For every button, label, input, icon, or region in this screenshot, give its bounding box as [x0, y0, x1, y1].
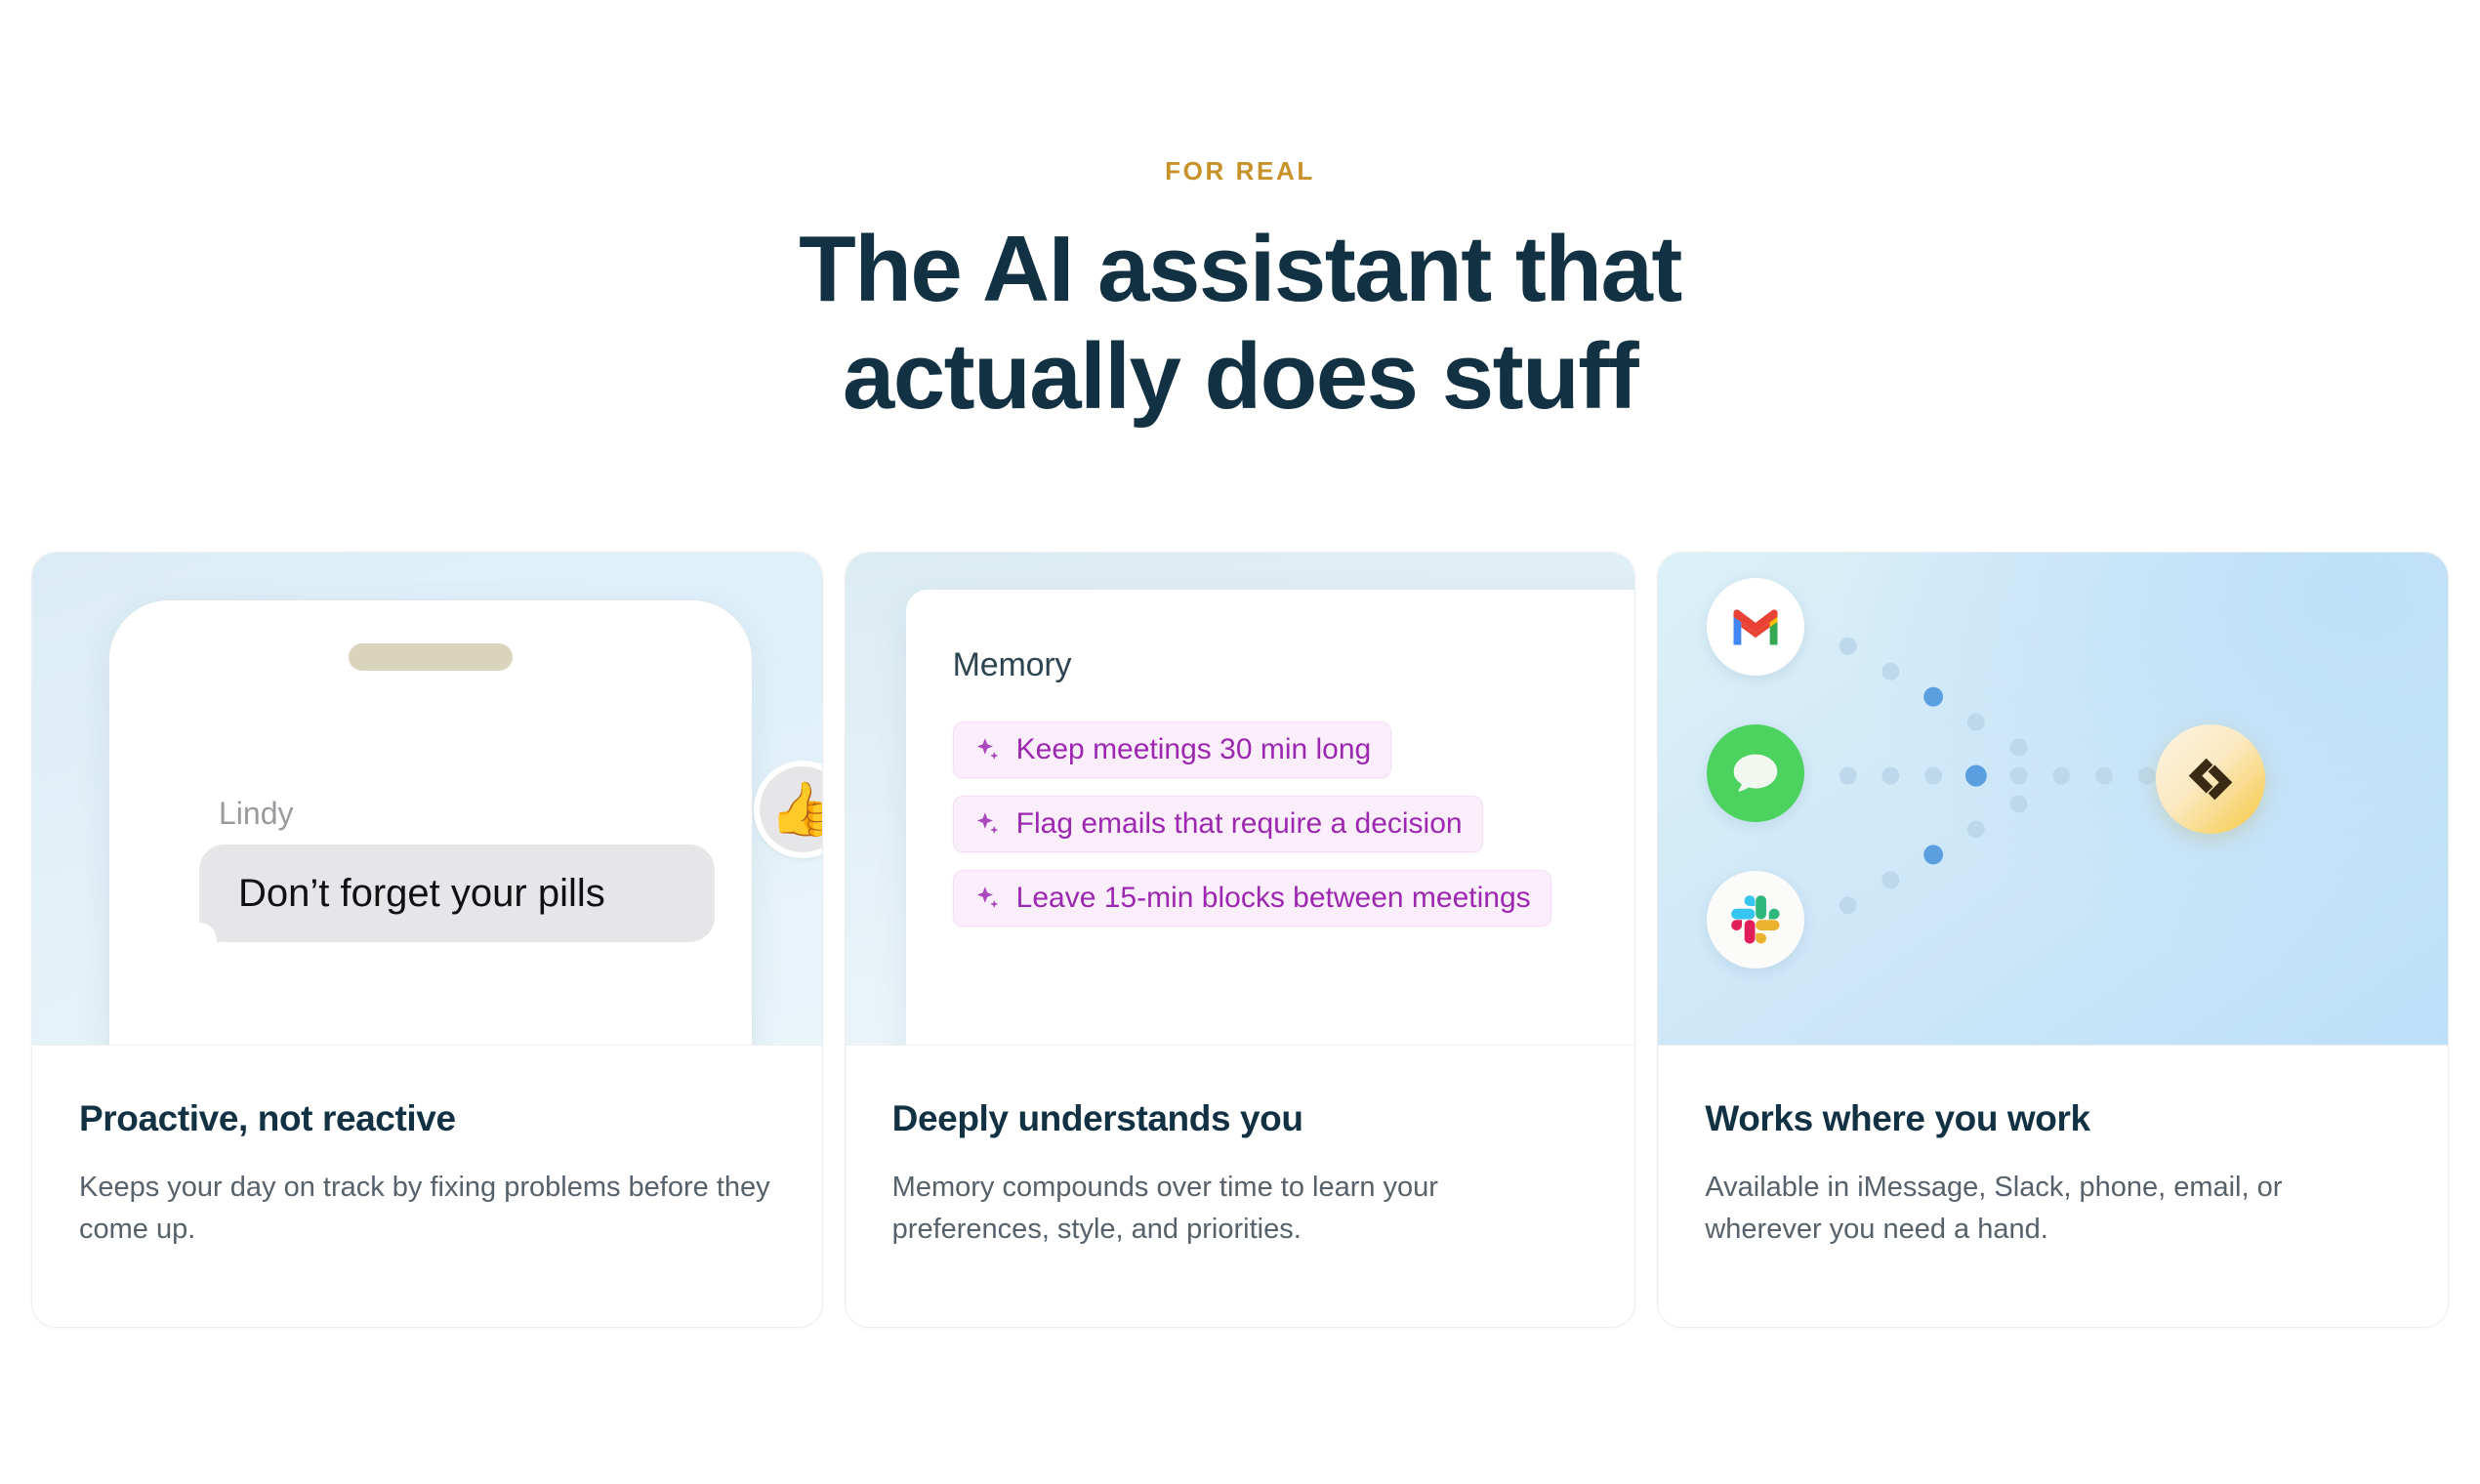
lindy-logo-icon — [2156, 724, 2265, 834]
memory-chip[interactable]: Flag emails that require a decision — [953, 796, 1483, 852]
page-title: The AI assistant that actually does stuf… — [0, 216, 2480, 432]
sparkle-icon — [973, 809, 1003, 839]
card-body-memory: Deeply understands you Memory compounds … — [846, 1046, 1635, 1327]
memory-panel-title: Memory — [953, 646, 1608, 684]
phone-notch — [349, 643, 513, 671]
feature-card-grid: Lindy Don’t forget your pills 👍 Proactiv… — [31, 552, 2449, 1328]
gmail-icon — [1707, 578, 1804, 676]
thumbs-up-reaction-icon: 👍 — [754, 761, 822, 858]
memory-chip[interactable]: Keep meetings 30 min long — [953, 721, 1392, 778]
headline-line-2: actually does stuff — [0, 323, 2480, 431]
phone-mockup: Lindy Don’t forget your pills 👍 — [108, 599, 753, 1046]
card-description: Keeps your day on track by fixing proble… — [79, 1167, 775, 1250]
feature-section: FOR REAL The AI assistant that actually … — [0, 0, 2480, 1484]
sparkle-icon — [973, 884, 1003, 913]
card-title: Works where you work — [1705, 1098, 2401, 1139]
memory-panel: Memory Keep meetings 30 min long — [906, 590, 1635, 1046]
slack-icon — [1707, 871, 1804, 969]
feature-card-proactive[interactable]: Lindy Don’t forget your pills 👍 Proactiv… — [31, 552, 823, 1328]
feature-card-integrations[interactable]: Works where you work Available in iMessa… — [1657, 552, 2449, 1328]
card-description: Available in iMessage, Slack, phone, ema… — [1705, 1167, 2401, 1250]
imessage-icon — [1707, 724, 1804, 822]
card-media-phone: Lindy Don’t forget your pills 👍 — [32, 553, 822, 1046]
card-body-integrations: Works where you work Available in iMessa… — [1658, 1046, 2448, 1327]
card-title: Deeply understands you — [892, 1098, 1589, 1139]
memory-chip-label: Leave 15-min blocks between meetings — [1016, 882, 1531, 915]
memory-chip-label: Flag emails that require a decision — [1016, 807, 1463, 841]
card-description: Memory compounds over time to learn your… — [892, 1167, 1589, 1250]
feature-card-memory[interactable]: Memory Keep meetings 30 min long — [845, 552, 1636, 1328]
headline-line-1: The AI assistant that — [0, 216, 2480, 323]
card-media-integrations — [1658, 553, 2448, 1046]
eyebrow-label: FOR REAL — [0, 156, 2480, 186]
card-title: Proactive, not reactive — [79, 1098, 775, 1139]
card-media-memory: Memory Keep meetings 30 min long — [846, 553, 1635, 1046]
message-sender-label: Lindy — [219, 796, 294, 832]
message-bubble: Don’t forget your pills — [199, 845, 715, 942]
memory-chip-list: Keep meetings 30 min long Flag emails th… — [953, 721, 1608, 944]
sparkle-icon — [973, 735, 1003, 764]
section-header: FOR REAL The AI assistant that actually … — [0, 156, 2480, 432]
card-body-proactive: Proactive, not reactive Keeps your day o… — [32, 1046, 822, 1327]
memory-chip-label: Keep meetings 30 min long — [1016, 733, 1372, 766]
memory-chip[interactable]: Leave 15-min blocks between meetings — [953, 870, 1551, 927]
